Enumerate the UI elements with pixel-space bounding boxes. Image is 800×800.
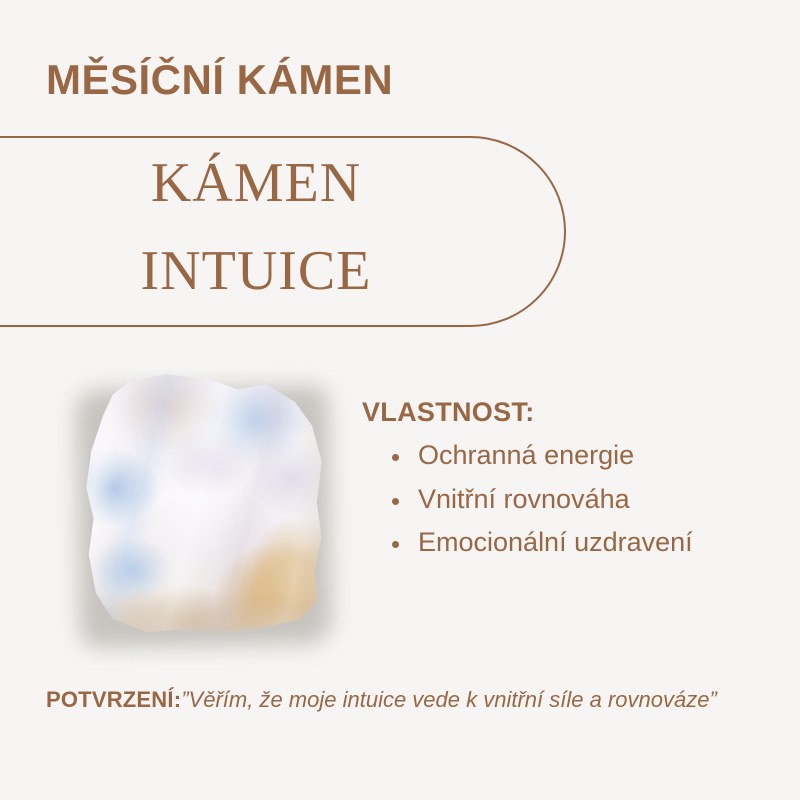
moonstone-image <box>56 368 346 653</box>
page-title: MĚSÍČNÍ KÁMEN <box>46 58 393 102</box>
moonstone-edge-shading <box>84 374 324 632</box>
properties-heading: VLASTNOST: <box>362 396 782 428</box>
properties-section: VLASTNOST: Ochranná energie Vnitřní rovn… <box>362 396 782 564</box>
banner-text: KÁMEN INTUICE <box>0 139 512 316</box>
affirmation-label: POTVRZENÍ: <box>46 687 181 712</box>
property-item: Ochranná energie <box>362 434 782 477</box>
property-item: Emocionální uzdravení <box>362 521 782 564</box>
affirmation-section: POTVRZENÍ:”Věřím, že moje intuice vede k… <box>46 682 766 718</box>
properties-list: Ochranná energie Vnitřní rovnováha Emoci… <box>362 434 782 564</box>
banner-line-2: INTUICE <box>0 227 512 315</box>
property-item: Vnitřní rovnováha <box>362 478 782 521</box>
banner-line-1: KÁMEN <box>0 139 512 227</box>
affirmation-quote: ”Věřím, že moje intuice vede k vnitřní s… <box>181 687 717 712</box>
poster-canvas: MĚSÍČNÍ KÁMEN KÁMEN INTUICE VLASTNOST: O… <box>0 0 800 800</box>
